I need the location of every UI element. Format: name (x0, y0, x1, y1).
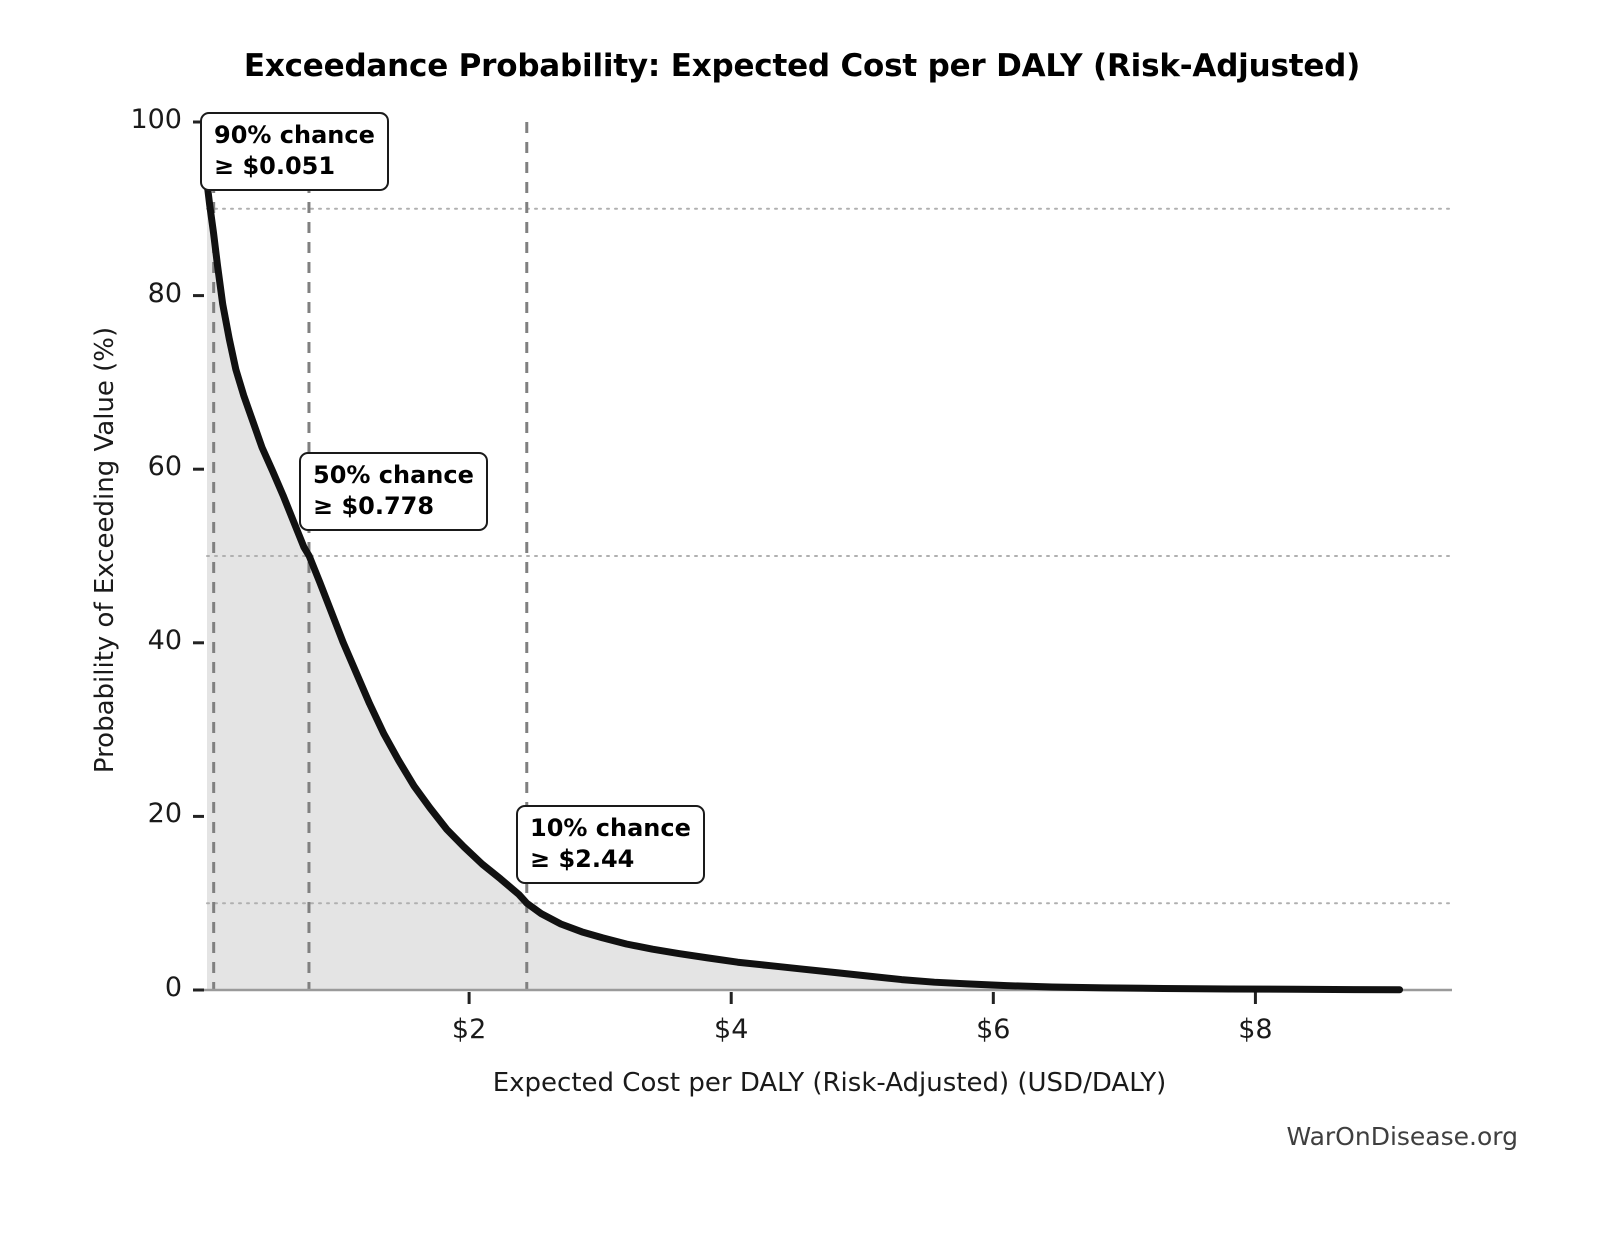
callout-line-value: ≥ $2.44 (530, 844, 691, 875)
x-tick-label-$4: $4 (686, 1014, 776, 1045)
y-tick-label-0: 0 (92, 972, 182, 1003)
annotation-callout-p10: 10% chance≥ $2.44 (516, 805, 705, 884)
y-tick-label-100: 100 (92, 104, 182, 135)
x-tick-label-$2: $2 (424, 1014, 514, 1045)
x-axis-title: Expected Cost per DALY (Risk-Adjusted) (… (207, 1068, 1452, 1098)
x-tick-label-$8: $8 (1210, 1014, 1300, 1045)
site-watermark: WarOnDisease.org (1286, 1122, 1518, 1151)
callout-line-chance: 90% chance (214, 120, 375, 151)
annotation-callout-p50: 50% chance≥ $0.778 (299, 452, 488, 531)
x-tick-label-$6: $6 (948, 1014, 1038, 1045)
callout-line-value: ≥ $0.051 (214, 151, 375, 182)
exceedance-probability-chart: Exceedance Probability: Expected Cost pe… (0, 0, 1604, 1234)
callout-line-chance: 10% chance (530, 813, 691, 844)
callout-line-value: ≥ $0.778 (313, 491, 474, 522)
exceedance-area-fill (207, 183, 1400, 990)
callout-line-chance: 50% chance (313, 460, 474, 491)
annotation-callout-p90: 90% chance≥ $0.051 (200, 112, 389, 191)
y-axis-title: Probability of Exceeding Value (%) (90, 150, 120, 950)
